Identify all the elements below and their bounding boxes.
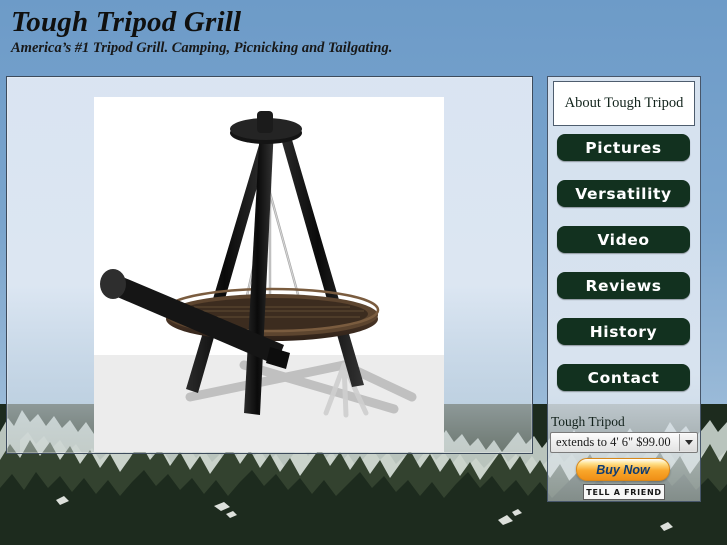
sidebar-item-history[interactable]: History: [557, 318, 690, 345]
sidebar-item-video[interactable]: Video: [557, 226, 690, 253]
sidebar: About Tough Tripod Pictures Versatility …: [547, 76, 701, 502]
page-title: Tough Tripod Grill: [11, 6, 241, 39]
sidebar-item-versatility[interactable]: Versatility: [557, 180, 690, 207]
site-header: Tough Tripod Grill America’s #1 Tripod G…: [0, 0, 727, 72]
tell-a-friend-label: TELL A FRIEND: [586, 488, 661, 497]
sidebar-item-contact[interactable]: Contact: [557, 364, 690, 391]
sidebar-item-label: Pictures: [585, 139, 662, 157]
sidebar-item-reviews[interactable]: Reviews: [557, 272, 690, 299]
buy-now-label: Buy Now: [596, 463, 649, 477]
sidebar-item-label: Versatility: [575, 185, 671, 203]
sidebar-item-label: Reviews: [585, 277, 661, 295]
chevron-down-icon[interactable]: [679, 434, 697, 451]
main-content-panel: [6, 76, 533, 454]
buy-now-button[interactable]: Buy Now: [576, 458, 670, 481]
tripod-grill-illustration: [94, 97, 444, 452]
product-photo: [94, 97, 444, 452]
product-option-selected-value: extends to 4' 6" $99.00: [551, 435, 679, 450]
product-name-label: Tough Tripod: [551, 414, 625, 430]
sidebar-item-label: Video: [597, 231, 649, 249]
sidebar-item-label: History: [590, 323, 658, 341]
site-tagline: America’s #1 Tripod Grill. Camping, Picn…: [11, 40, 392, 57]
sidebar-title: About Tough Tripod: [553, 81, 695, 126]
product-option-select[interactable]: extends to 4' 6" $99.00: [550, 432, 698, 453]
sidebar-item-label: Contact: [588, 369, 660, 387]
sidebar-item-pictures[interactable]: Pictures: [557, 134, 690, 161]
tell-a-friend-button[interactable]: TELL A FRIEND: [583, 484, 665, 500]
